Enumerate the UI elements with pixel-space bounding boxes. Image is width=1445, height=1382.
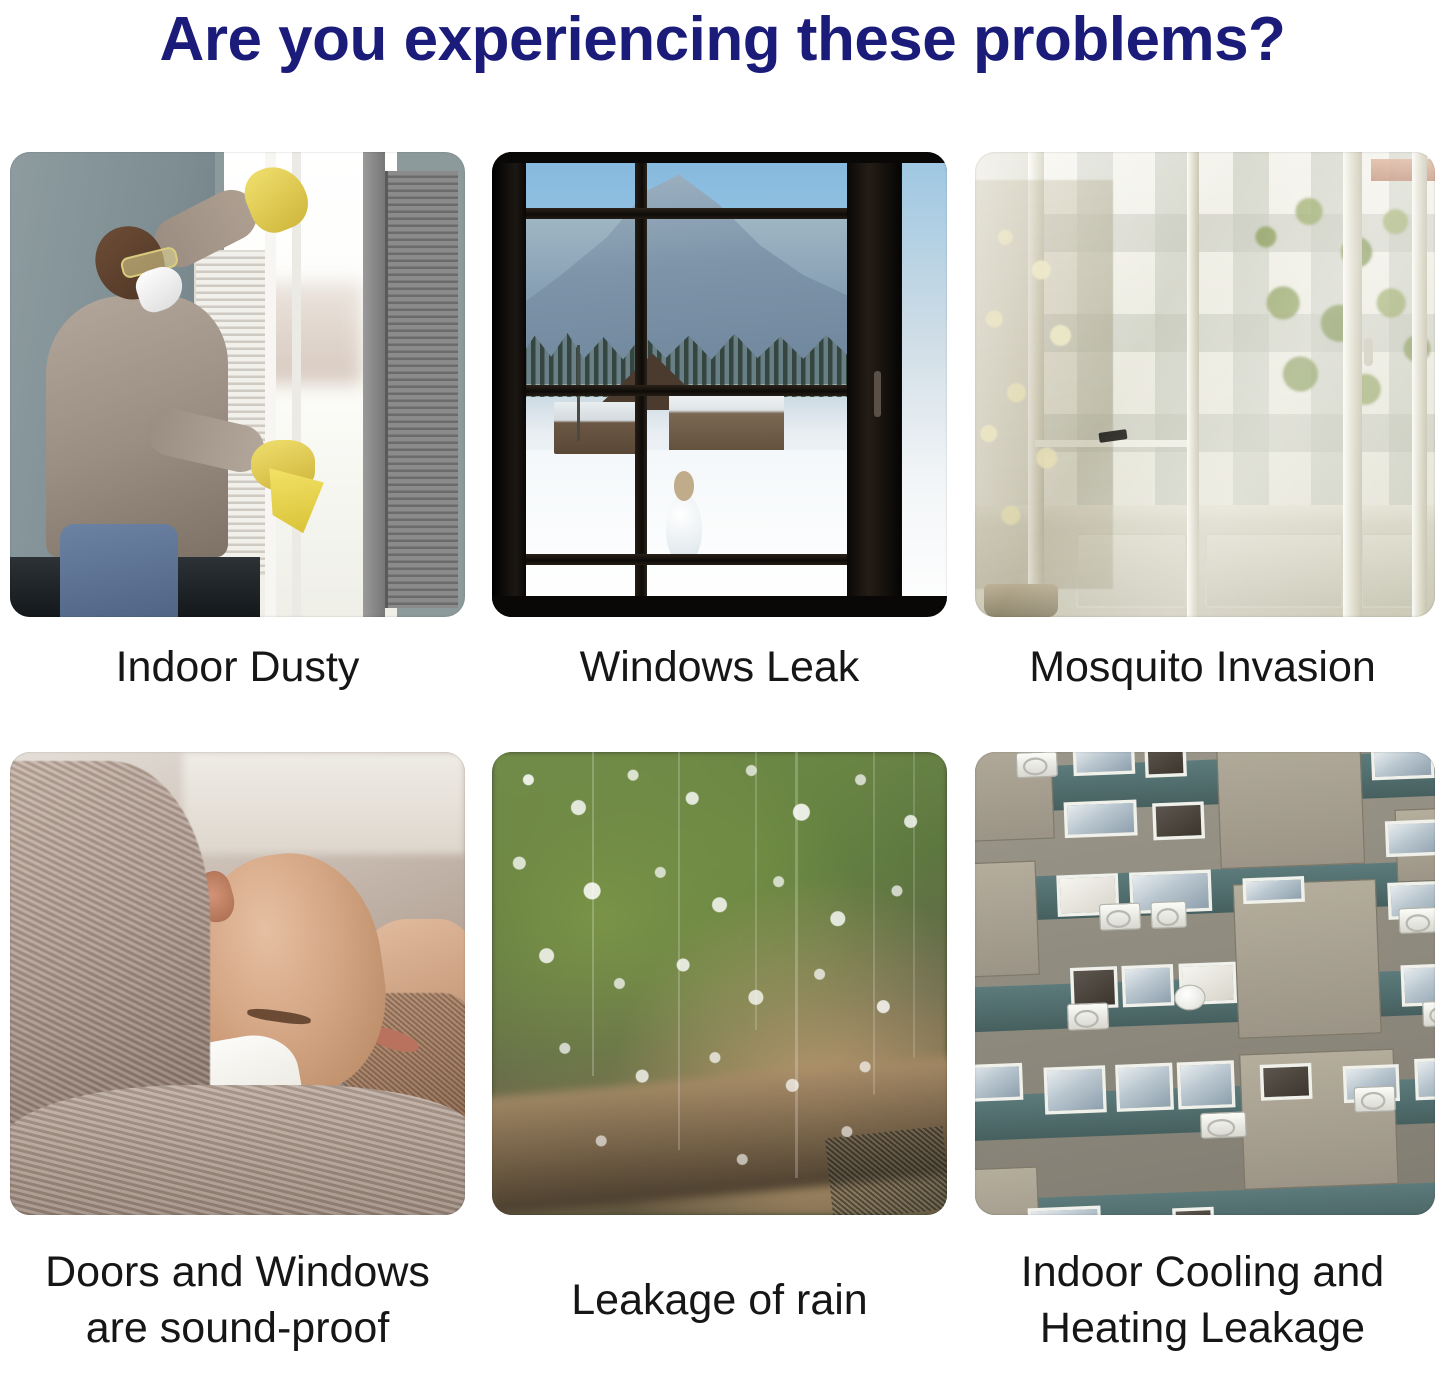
air-conditioner-4 <box>1150 901 1187 928</box>
caption-windows-leak: Windows Leak <box>462 639 977 695</box>
problem-row-1: Indoor Dusty <box>10 152 1435 752</box>
window-pane-2 <box>1144 752 1187 778</box>
window-pane-15 <box>975 1063 1024 1102</box>
window-pane-9 <box>1242 876 1305 904</box>
concrete-slab-2 <box>1216 752 1366 869</box>
window-frame-left <box>492 152 526 617</box>
caption-line-2: Heating Leakage <box>945 1300 1445 1356</box>
side-pane-shape <box>902 152 948 617</box>
window-pane-3 <box>1371 752 1434 780</box>
window-mullion-bottom <box>522 554 850 565</box>
caption-leakage-of-rain: Leakage of rain <box>462 1272 977 1328</box>
foliage-shape <box>1227 181 1435 435</box>
window-view-shape <box>522 161 850 598</box>
window-mullion-3 <box>1343 152 1362 617</box>
chalet-right-shape <box>669 393 784 450</box>
air-conditioner-1 <box>1016 752 1058 778</box>
problem-grid: Indoor Dusty <box>10 152 1435 1372</box>
caption-cooling-heating-leakage: Indoor Cooling and Heating Leakage <box>945 1244 1445 1356</box>
air-conditioner-9 <box>1353 1085 1395 1112</box>
shutter-dark-edge-shape <box>363 152 386 617</box>
person-jeans-shape <box>60 524 178 617</box>
headboard-shape <box>183 752 465 854</box>
problem-cell-leakage-of-rain: Leakage of rain <box>492 752 947 1215</box>
photo-cooling-heating-leakage <box>975 752 1435 1215</box>
window-mullion-top <box>522 208 850 219</box>
caption-line-1: Doors and Windows <box>0 1244 495 1300</box>
wall-panel-2-shape <box>1205 533 1343 607</box>
problem-cell-mosquito-invasion: Mosquito Invasion <box>975 152 1445 617</box>
caption-line-2: are sound-proof <box>0 1300 495 1356</box>
photo-sound-proof <box>10 752 465 1215</box>
plant-pot-shape <box>984 584 1058 617</box>
air-conditioner-7 <box>1422 1000 1435 1027</box>
page-title: Are you experiencing these problems? <box>0 2 1445 78</box>
air-conditioner-5 <box>1398 907 1435 934</box>
concrete-slab-3 <box>975 860 1040 978</box>
photo-mosquito-invasion <box>975 152 1435 617</box>
problem-cell-sound-proof: Doors and Windows are sound-proof <box>10 752 465 1215</box>
problem-row-2: Doors and Windows are sound-proof Leakag… <box>10 752 1435 1372</box>
window-pane-4 <box>1064 799 1137 838</box>
window-pane-19 <box>1260 1062 1313 1100</box>
window-mullion-middle <box>522 385 850 396</box>
marketing-image-root: Are you experiencing these problems? <box>0 0 1445 1382</box>
problem-cell-indoor-dusty: Indoor Dusty <box>10 152 465 617</box>
window-frame-top <box>492 152 947 163</box>
rain-droplets-overlay <box>492 752 947 1215</box>
window-pane-17 <box>1115 1063 1173 1112</box>
window-pane-18 <box>1177 1060 1235 1109</box>
snowman-shape <box>666 494 702 564</box>
window-pane-5 <box>1152 802 1205 840</box>
window-pane-6 <box>1384 819 1435 858</box>
caption-line-1: Indoor Cooling and <box>945 1244 1445 1300</box>
window-pane-16 <box>1043 1065 1107 1114</box>
caption-indoor-dusty: Indoor Dusty <box>0 639 495 695</box>
photo-windows-leak <box>492 152 947 617</box>
problem-cell-windows-leak: Windows Leak <box>492 152 947 617</box>
caption-sound-proof: Doors and Windows are sound-proof <box>0 1244 495 1356</box>
window-pane-1 <box>1072 752 1135 776</box>
apartment-facade-shape <box>975 752 1435 1215</box>
photo-indoor-dusty <box>10 152 465 617</box>
window-pane-12 <box>1122 964 1175 1007</box>
window-mullion-2 <box>1187 152 1199 617</box>
air-conditioner-6 <box>1067 1003 1109 1030</box>
window-pane-21 <box>1414 1057 1435 1100</box>
window-handle-shape <box>874 371 881 418</box>
window-pane-22 <box>1028 1205 1102 1215</box>
window-pane-23 <box>1172 1206 1215 1215</box>
chalet-left-shape <box>554 402 646 454</box>
air-conditioner-3 <box>1099 903 1141 930</box>
air-conditioner-8 <box>1200 1112 1247 1140</box>
shutter-dark-shape <box>385 171 458 608</box>
dry-branches-shape <box>975 180 1113 589</box>
window-mullion-4 <box>1412 152 1427 617</box>
problem-cell-cooling-heating-leakage: Indoor Cooling and Heating Leakage <box>975 752 1445 1215</box>
photo-leakage-of-rain <box>492 752 947 1215</box>
window-frame-bottom <box>492 596 947 617</box>
caption-mosquito-invasion: Mosquito Invasion <box>945 639 1445 695</box>
window-handle-light-shape <box>1364 338 1373 366</box>
blanket-bottom-shape <box>10 1085 465 1215</box>
